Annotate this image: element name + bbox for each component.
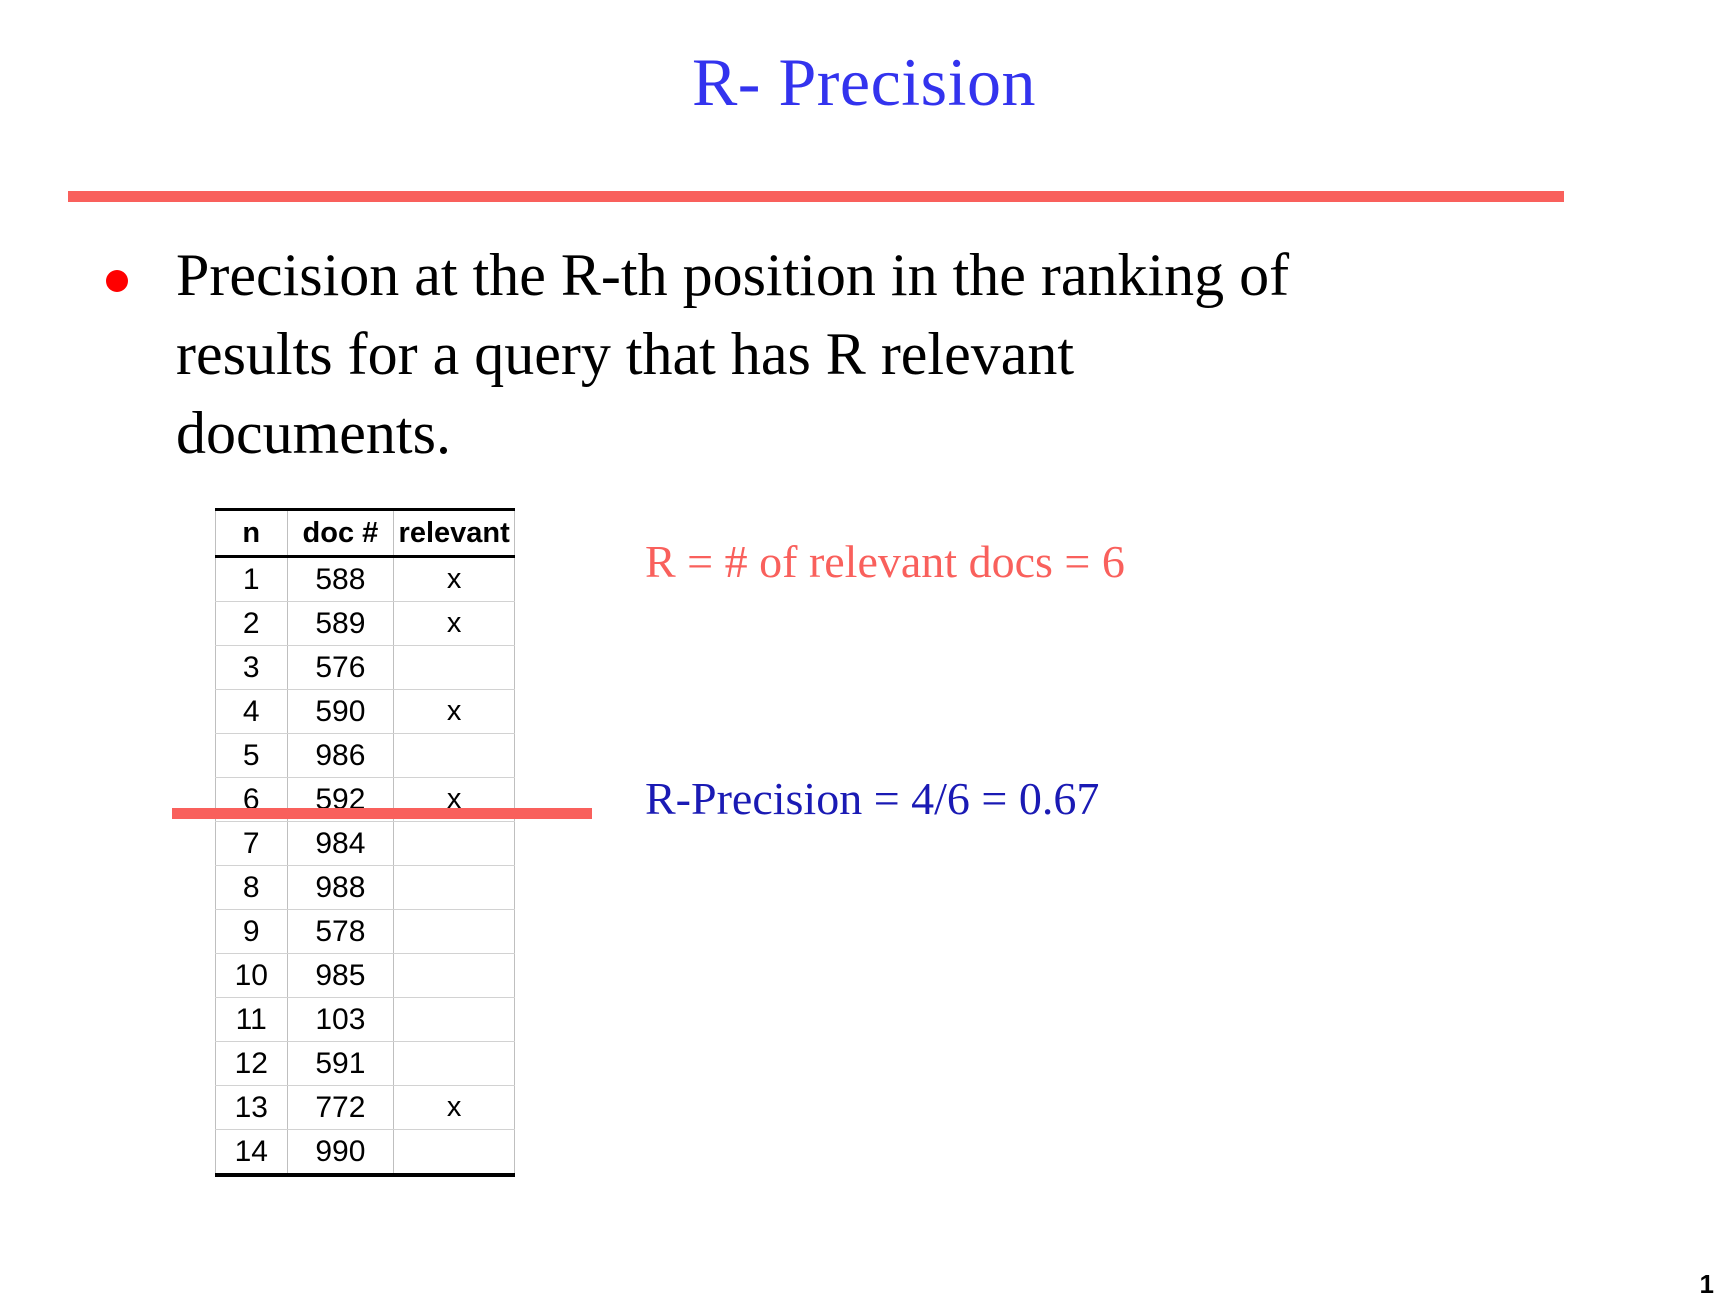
table-row: 10985	[216, 954, 515, 998]
cell-rank: 8	[216, 866, 288, 910]
cell-relevant-mark	[394, 646, 515, 690]
ranked-results-table: n doc # relevant 1588x2589x35764590x5986…	[215, 508, 515, 1177]
bullet-dot-icon	[106, 270, 128, 292]
cell-relevant-mark	[394, 734, 515, 778]
bullet-list-item: Precision at the R-th position in the ra…	[106, 236, 1546, 474]
table-row: 7984	[216, 822, 515, 866]
table-row: 5986	[216, 734, 515, 778]
cell-relevant-mark	[394, 954, 515, 998]
table-row: 4590x	[216, 690, 515, 734]
table-row: 13772x	[216, 1086, 515, 1130]
annotation-r-precision-value: R-Precision = 4/6 = 0.67	[645, 772, 1099, 825]
cell-relevant-mark	[394, 1042, 515, 1086]
cell-doc-number: 103	[287, 998, 394, 1042]
cell-rank: 4	[216, 690, 288, 734]
table-row: 14990	[216, 1130, 515, 1176]
cell-rank: 14	[216, 1130, 288, 1176]
cell-doc-number: 986	[287, 734, 394, 778]
cell-rank: 11	[216, 998, 288, 1042]
slide-title: R- Precision	[0, 48, 1728, 116]
table-header-row: n doc # relevant	[216, 510, 515, 557]
cell-relevant-mark	[394, 822, 515, 866]
cell-rank: 9	[216, 910, 288, 954]
mid-slide-divider-rule	[172, 808, 592, 819]
table-row: 11103	[216, 998, 515, 1042]
cell-rank: 10	[216, 954, 288, 998]
cell-doc-number: 576	[287, 646, 394, 690]
cell-relevant-mark	[394, 866, 515, 910]
cell-relevant-mark	[394, 1130, 515, 1176]
cell-relevant-mark: x	[394, 1086, 515, 1130]
annotation-r-definition: R = # of relevant docs = 6	[645, 535, 1125, 588]
cell-doc-number: 772	[287, 1086, 394, 1130]
cell-relevant-mark: x	[394, 602, 515, 646]
cell-rank: 2	[216, 602, 288, 646]
bullet-text: Precision at the R-th position in the ra…	[176, 236, 1346, 474]
table-row: 9578	[216, 910, 515, 954]
cell-rank: 7	[216, 822, 288, 866]
cell-doc-number: 578	[287, 910, 394, 954]
table-row: 3576	[216, 646, 515, 690]
cell-doc-number: 984	[287, 822, 394, 866]
cell-relevant-mark	[394, 998, 515, 1042]
column-header-n: n	[216, 510, 288, 557]
cell-relevant-mark: x	[394, 557, 515, 602]
cell-doc-number: 988	[287, 866, 394, 910]
table-row: 12591	[216, 1042, 515, 1086]
cell-relevant-mark: x	[394, 690, 515, 734]
cell-doc-number: 591	[287, 1042, 394, 1086]
table-row: 1588x	[216, 557, 515, 602]
table-row: 2589x	[216, 602, 515, 646]
title-divider-rule	[68, 191, 1564, 202]
cell-doc-number: 590	[287, 690, 394, 734]
cell-doc-number: 588	[287, 557, 394, 602]
cell-doc-number: 589	[287, 602, 394, 646]
cell-relevant-mark	[394, 910, 515, 954]
cell-doc-number: 985	[287, 954, 394, 998]
cell-rank: 3	[216, 646, 288, 690]
cell-rank: 1	[216, 557, 288, 602]
column-header-relevant: relevant	[394, 510, 515, 557]
cell-doc-number: 990	[287, 1130, 394, 1176]
page-number: 1	[1700, 1269, 1714, 1300]
table-row: 8988	[216, 866, 515, 910]
cell-rank: 5	[216, 734, 288, 778]
column-header-doc-number: doc #	[287, 510, 394, 557]
cell-rank: 12	[216, 1042, 288, 1086]
cell-rank: 13	[216, 1086, 288, 1130]
